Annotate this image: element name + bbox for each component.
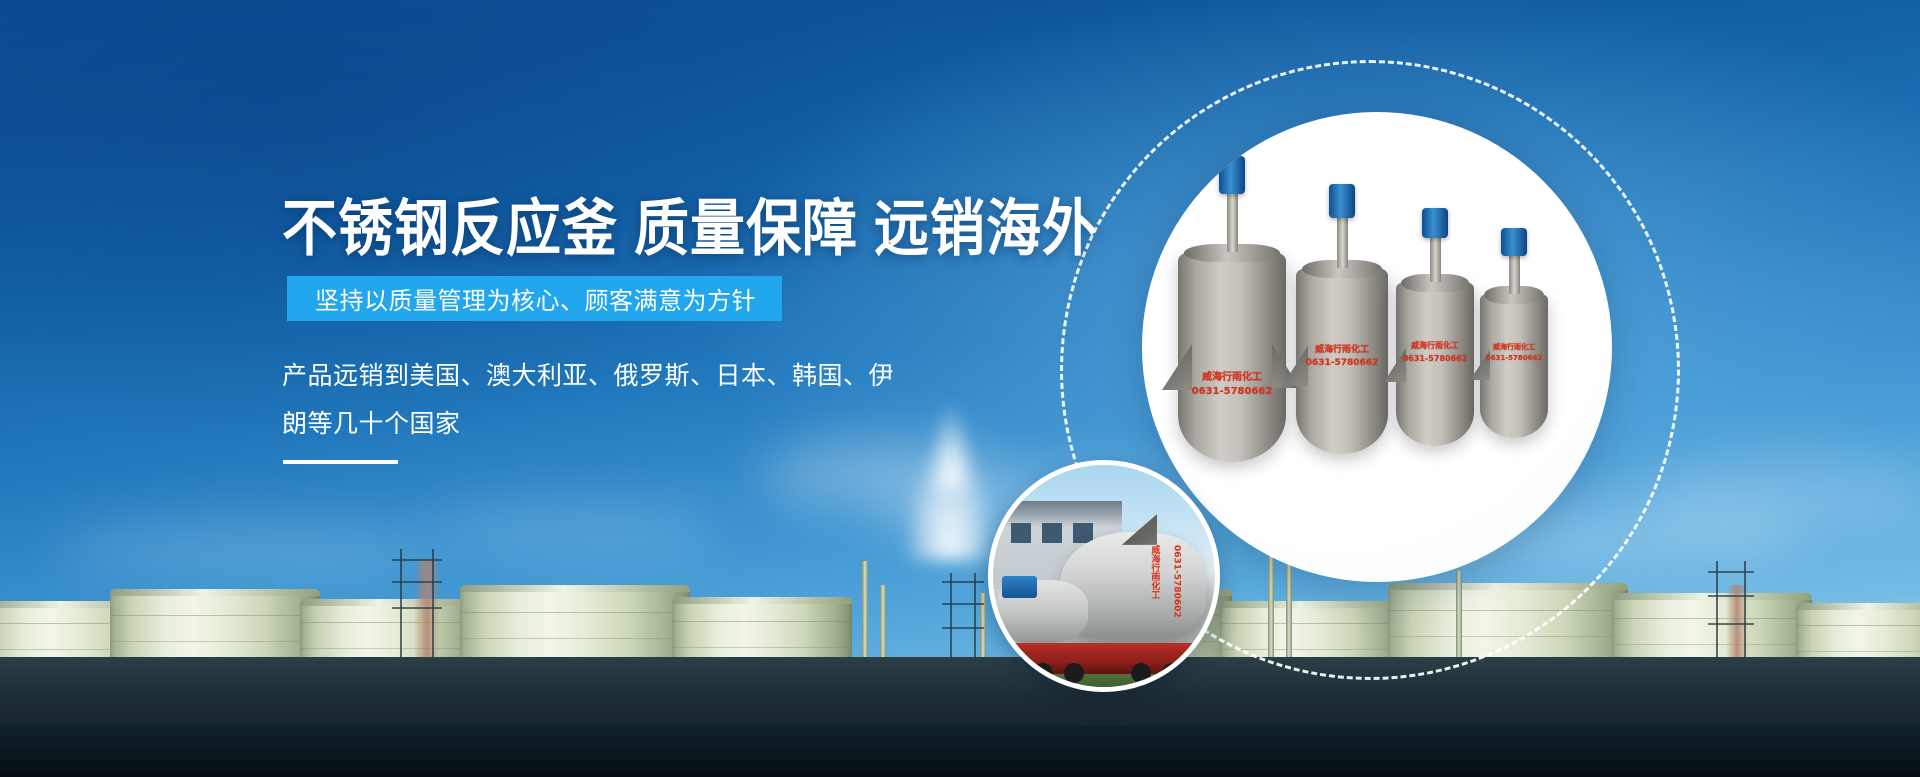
divider-rule xyxy=(283,460,398,464)
inset-phone-text: 0631-5780602 xyxy=(1171,545,1183,618)
reactor-fin xyxy=(1122,514,1158,545)
vessel-brand-text: 威海行雨化工 xyxy=(1480,342,1548,352)
page-title: 不锈钢反应釜质量保障远销海外 xyxy=(282,198,1098,260)
headline-part-3: 远销海外 xyxy=(874,194,1098,263)
vessel-brand-text: 威海行雨化工 xyxy=(1296,342,1388,355)
headline-part-2: 质量保障 xyxy=(634,194,858,263)
secondary-photo-circle[interactable]: 威海行雨化工 0631-5780602 xyxy=(988,460,1220,692)
vessel-phone-text: 0631-5780662 xyxy=(1296,358,1388,368)
vessel-phone-text: 0631-5780662 xyxy=(1480,354,1548,362)
inset-brand-text: 威海行雨化工 xyxy=(1148,545,1160,599)
reactor-vessel: 威海行雨化工 0631-5780662 xyxy=(1480,294,1548,438)
vessel-phone-text: 0631-5780662 xyxy=(1178,386,1286,397)
tagline-bar: 坚持以质量管理为核心、顾客满意为方针 xyxy=(287,276,782,321)
product-photo-circle[interactable]: 威海行雨化工 0631-5780662 威海行雨化工 0631-5780662 … xyxy=(1142,112,1612,582)
hero-banner: 威海行雨化工 0631-5780662 威海行雨化工 0631-5780662 … xyxy=(0,0,1920,777)
vessel-phone-text: 0631-5780662 xyxy=(1396,354,1474,363)
vessel-brand-text: 威海行雨化工 xyxy=(1178,368,1286,383)
reactor-vessel: 威海行雨化工 0631-5780662 xyxy=(1396,282,1474,446)
reactor-vessel: 威海行雨化工 0631-5780662 xyxy=(1296,268,1388,454)
banner-copy: 不锈钢反应釜质量保障远销海外 坚持以质量管理为核心、顾客满意为方针 产品远销到美… xyxy=(0,0,1000,777)
reactor-vessel: 威海行雨化工 0631-5780662 xyxy=(1178,252,1286,462)
blue-motor xyxy=(1002,576,1038,598)
headline-part-1: 不锈钢反应釜 xyxy=(282,194,618,263)
description-paragraph: 产品远销到美国、澳大利亚、俄罗斯、日本、韩国、伊朗等几十个国家 xyxy=(282,352,902,448)
tagline-text: 坚持以质量管理为核心、顾客满意为方针 xyxy=(315,281,756,316)
vessel-brand-text: 威海行雨化工 xyxy=(1396,340,1474,351)
